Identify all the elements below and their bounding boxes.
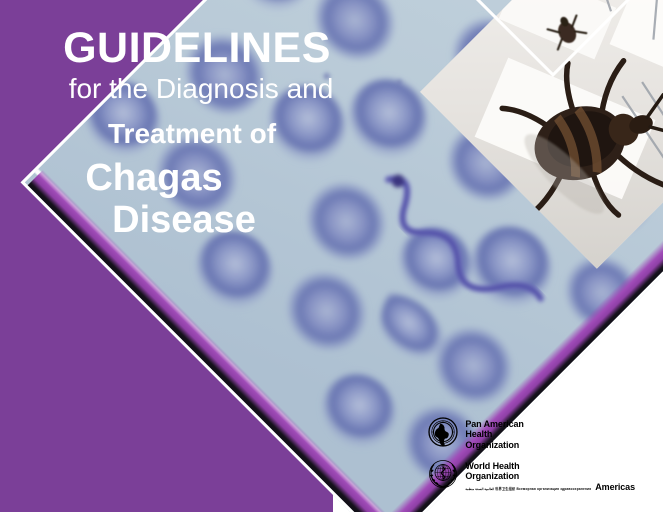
paho-emblem (428, 417, 458, 452)
who-logo: World Health Organization العالمية الصحة… (428, 459, 635, 494)
title-line-chagas: Chagas (0, 157, 380, 200)
page-title: GUIDELINES (0, 26, 380, 71)
title-line-treatment: Treatment of (0, 117, 380, 151)
publication-cover: GUIDELINES for the Diagnosis and Treatme… (0, 0, 663, 512)
title-subtitle: for the Diagnosis and (0, 73, 380, 105)
who-footer: العالمية الصحة منظمة 世界卫生组织 Всемирная ор… (465, 482, 635, 493)
cover-title-block: GUIDELINES for the Diagnosis and Treatme… (0, 26, 380, 242)
paho-line-2: Health (465, 429, 492, 439)
paho-logo-text: Pan American Health Organization (465, 419, 524, 451)
who-multilingual-text: العالمية الصحة منظمة 世界卫生组织 Всемирная ор… (465, 488, 591, 492)
paho-line-1: Pan American (465, 419, 524, 429)
who-line-2: Organization (465, 471, 519, 481)
who-emblem (428, 459, 458, 494)
title-line-disease: Disease (0, 199, 380, 242)
who-line-1: World Health (465, 461, 519, 471)
organization-logos: Pan American Health Organization (428, 417, 635, 494)
who-logo-text: World Health Organization العالمية الصحة… (465, 461, 635, 493)
paho-logo: Pan American Health Organization (428, 417, 635, 452)
paho-line-3: Organization (465, 440, 519, 450)
who-region-label: Americas (595, 482, 635, 493)
